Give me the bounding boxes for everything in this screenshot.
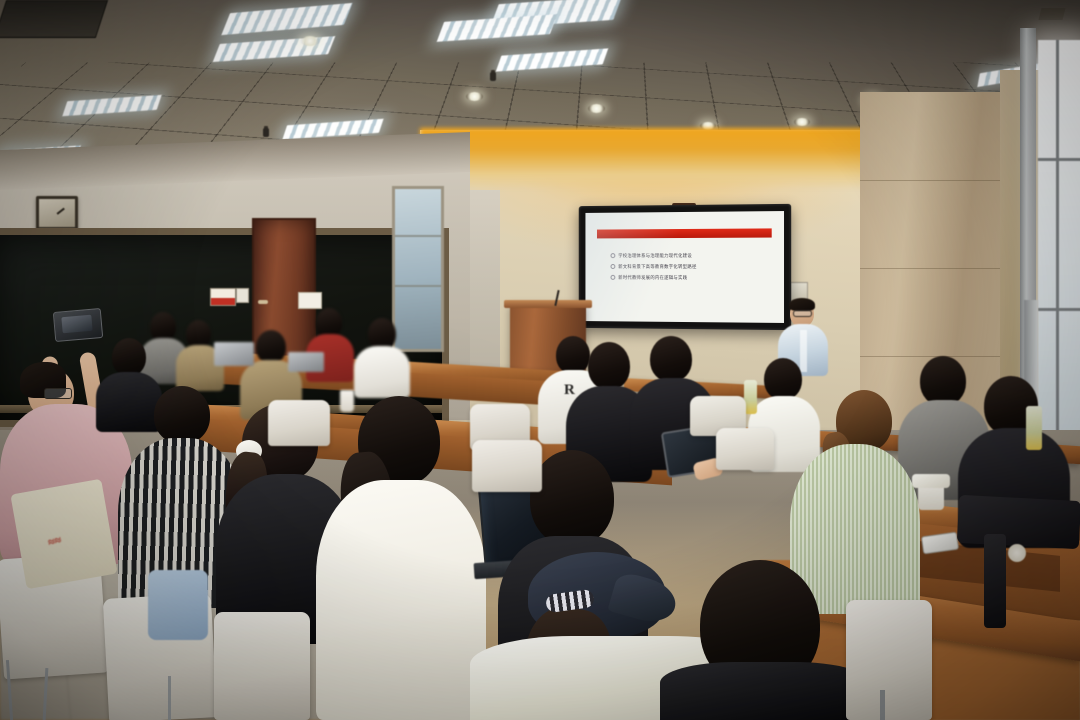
person-head	[764, 358, 802, 400]
chair[interactable]	[472, 440, 542, 492]
door-sign	[298, 292, 322, 309]
person-head	[112, 338, 146, 376]
glasses-icon	[44, 388, 72, 399]
chair[interactable]	[214, 612, 310, 720]
person-head	[650, 336, 692, 382]
chair[interactable]	[268, 400, 330, 446]
ceiling-sprinkler	[490, 72, 496, 81]
person-body	[660, 662, 870, 720]
person-head	[920, 356, 966, 406]
person-body	[96, 372, 162, 432]
recessed-downlight	[300, 36, 320, 46]
chair-leg	[168, 676, 171, 720]
black-handbag	[957, 495, 1080, 549]
chair[interactable]	[716, 428, 774, 470]
shirt-letter-r: R	[564, 382, 575, 398]
ceiling-speaker	[1039, 8, 1066, 20]
lectern-top	[504, 300, 592, 308]
ceiling-air-vent	[0, 0, 108, 38]
coffee-cup	[340, 390, 354, 412]
wall-clock	[36, 196, 78, 230]
chair[interactable]	[846, 600, 932, 720]
person-head	[256, 330, 286, 364]
recessed-downlight	[794, 118, 810, 126]
camera-screen	[61, 315, 92, 334]
screen-glare	[585, 212, 683, 322]
person-head	[588, 342, 630, 390]
laptop-user-head	[530, 450, 614, 546]
window	[392, 186, 444, 352]
presenter-shirt-placket	[800, 330, 807, 372]
person-head	[556, 336, 590, 374]
striped-top-woman-head	[154, 386, 210, 444]
white-jacket-woman-body	[316, 480, 486, 720]
blue-bag	[148, 570, 208, 640]
glasses-icon	[793, 310, 812, 317]
bag-strap	[984, 534, 1006, 628]
bag-charm	[1008, 544, 1026, 562]
recessed-downlight	[588, 104, 605, 113]
person-body	[354, 346, 410, 398]
recessed-downlight	[466, 92, 483, 101]
cup-lid	[912, 474, 950, 488]
window	[1038, 40, 1080, 470]
lecture-hall-photo: 学校治理体系与治理能力现代化建设 新文科背景下高等教育数字化转型路径 新时代教师…	[0, 0, 1080, 720]
light-switch[interactable]	[236, 288, 249, 303]
presentation-slide: 学校治理体系与治理能力现代化建设 新文科背景下高等教育数字化转型路径 新时代教师…	[585, 211, 784, 323]
wall-notice-sign	[210, 288, 236, 306]
ceiling-sprinkler	[263, 128, 269, 137]
cove-light-strip	[420, 128, 890, 190]
laptop[interactable]	[288, 352, 324, 372]
wall-display[interactable]: 学校治理体系与治理能力现代化建设 新文科背景下高等教育数字化转型路径 新时代教师…	[579, 204, 791, 330]
laptop[interactable]	[214, 342, 254, 366]
door-handle[interactable]	[258, 300, 268, 304]
chair-leg	[880, 690, 885, 720]
water-bottle	[1026, 406, 1042, 450]
